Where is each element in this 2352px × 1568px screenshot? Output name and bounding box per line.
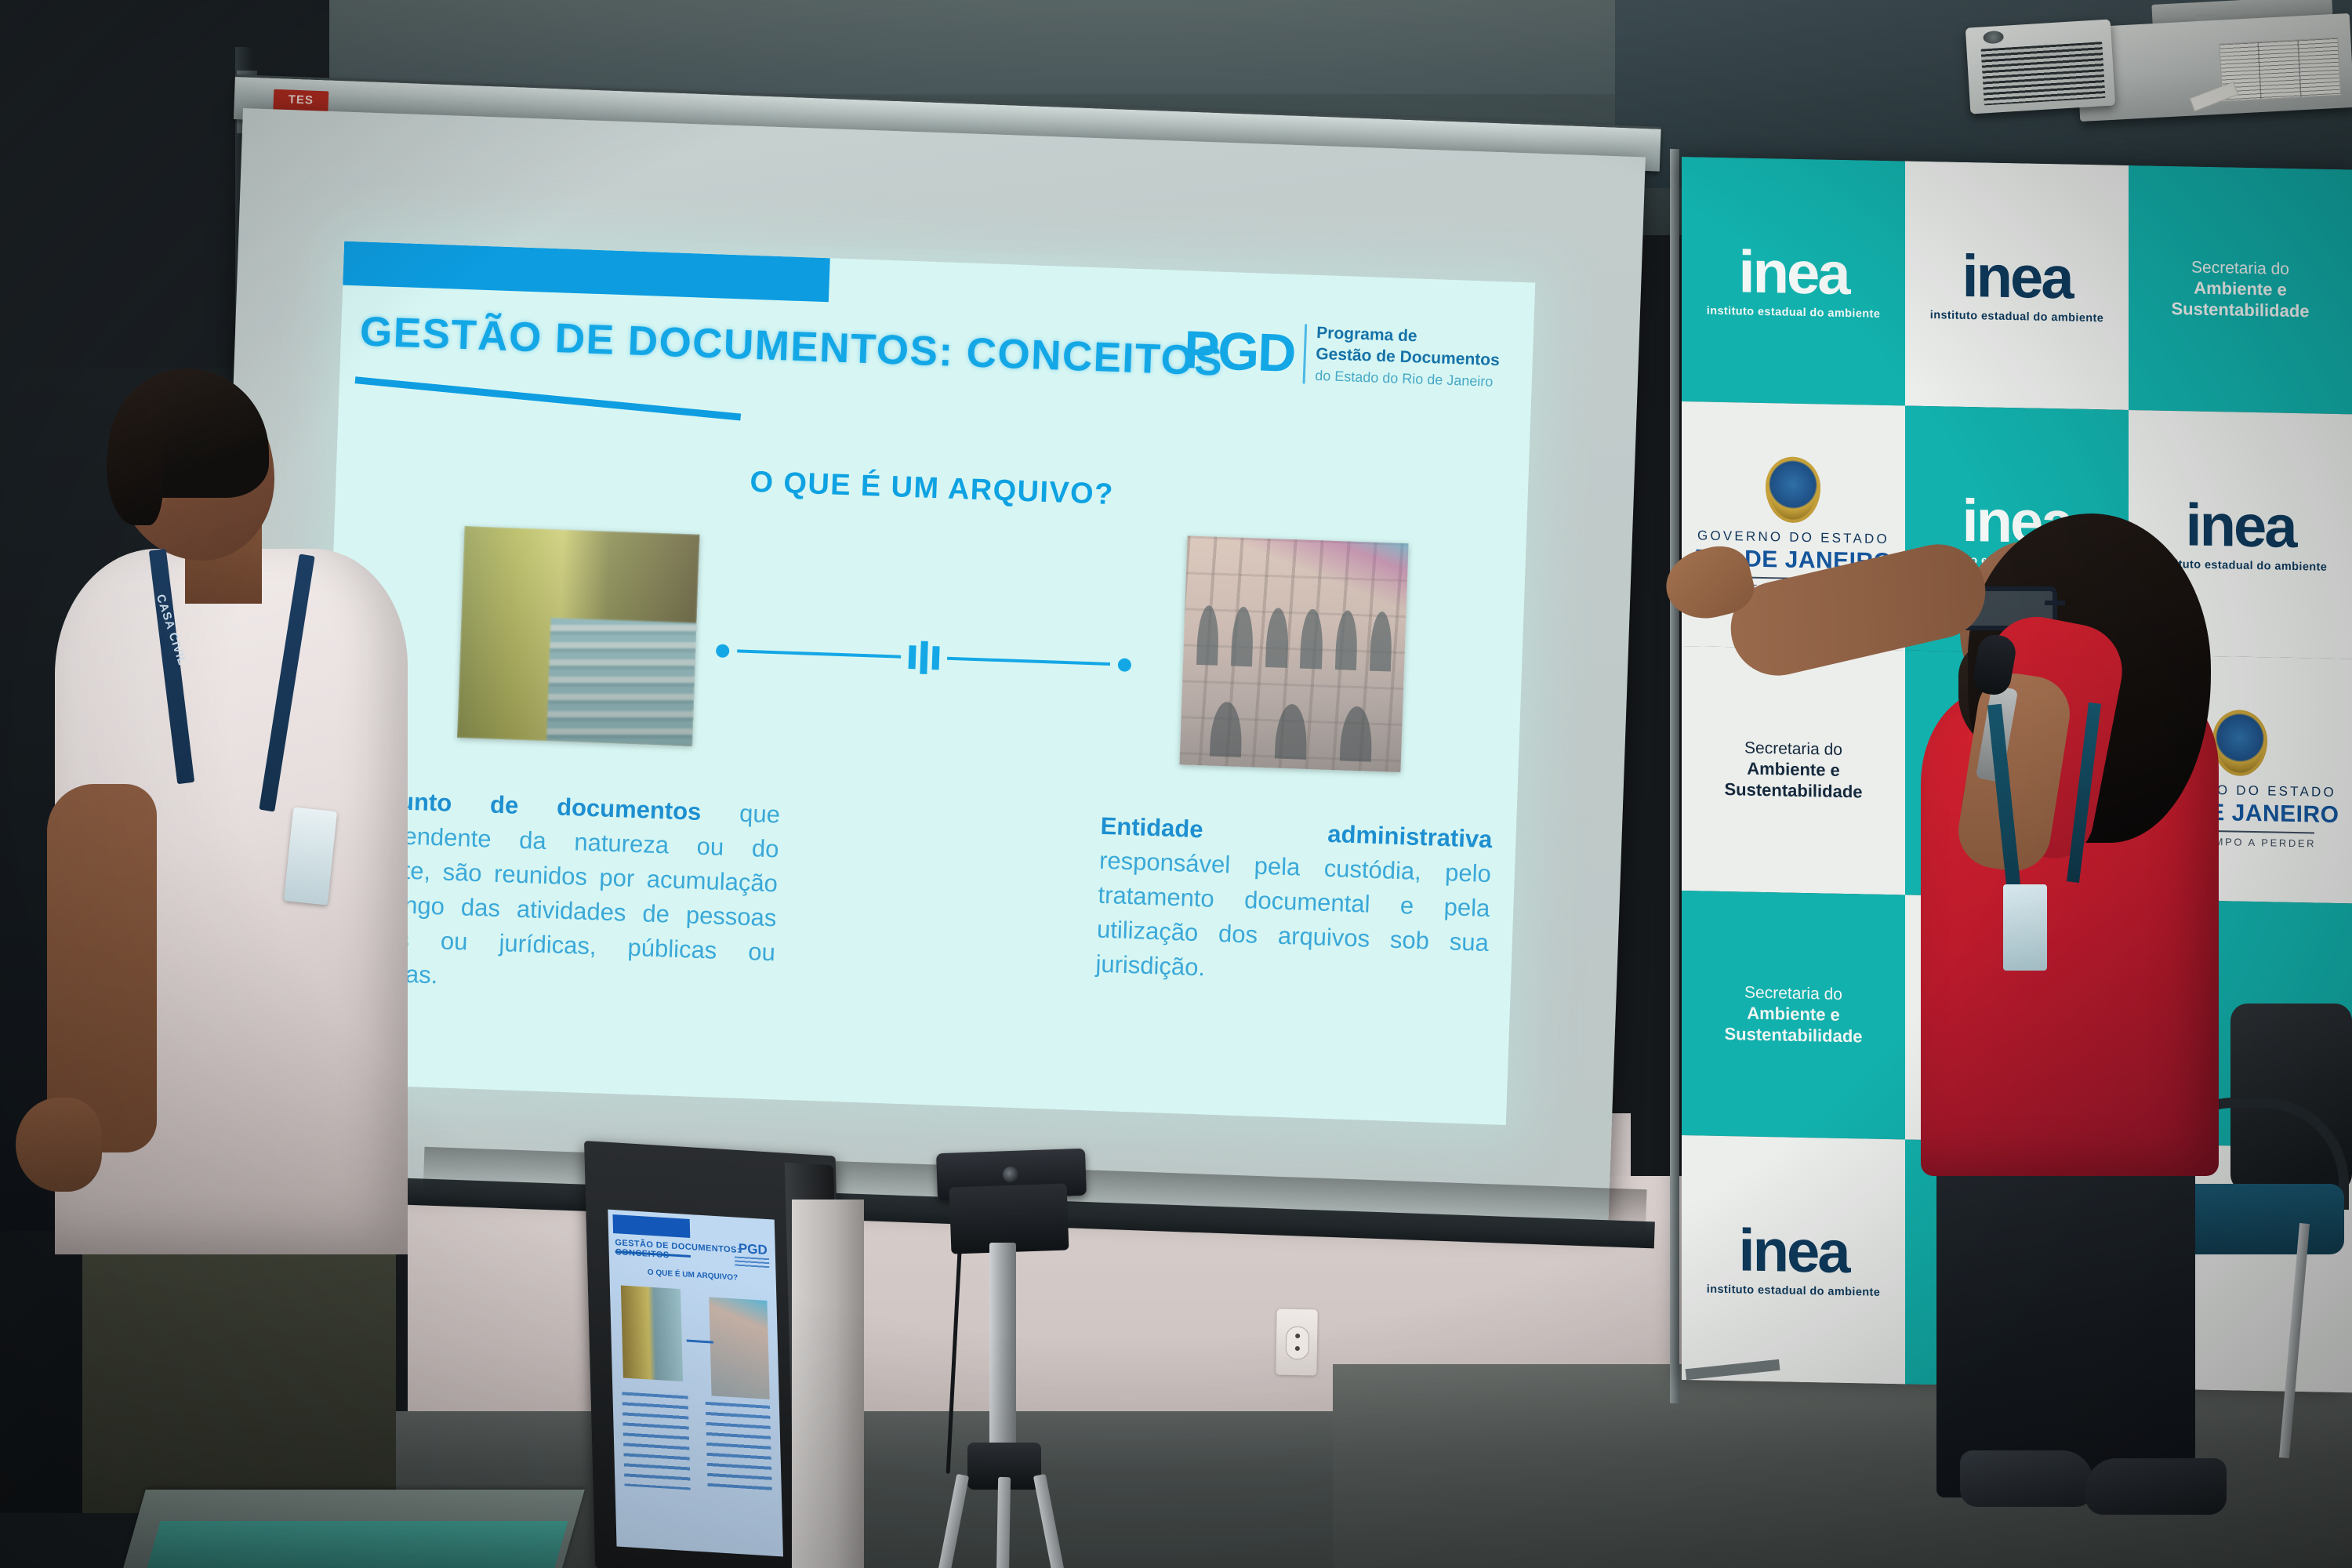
definition-right-lead: Entidade administrativa [1100, 812, 1493, 853]
banner-cell-secretaria: Secretaria doAmbiente e Sustentabilidade [1682, 646, 1905, 895]
inea-logo: ineainstituto estadual do ambiente [1707, 1221, 1880, 1299]
projector-vent-grille [1980, 42, 2105, 105]
projector-front-housing [1965, 19, 2115, 114]
secretaria-logo: Secretaria doAmbiente e Sustentabilidade [1682, 982, 1905, 1048]
pgd-logo-divider [1303, 324, 1308, 383]
banner-support-pole [1670, 149, 1679, 1403]
tripod-leg [996, 1477, 1011, 1568]
presenter-right-shoe [2085, 1458, 2227, 1515]
definition-right: Entidade administrativa responsável pela… [1095, 809, 1493, 995]
mini-building-photo [709, 1297, 769, 1399]
title-underline-rule [355, 376, 742, 420]
attendee-left-hand [16, 1098, 102, 1192]
banner-cell-secretaria: Secretaria doAmbiente e Sustentabilidade [2129, 165, 2352, 414]
inea-logo-wordmark: inea [1738, 243, 1848, 305]
tripod-center-column [989, 1243, 1016, 1454]
pgd-logo-subtitle: Programa de Gestão de Documentos do Esta… [1315, 324, 1501, 391]
decorative-divider [716, 636, 1132, 678]
mini-pgd-subtitle [735, 1256, 769, 1269]
presenter-right-trousers [1936, 1129, 2195, 1497]
building-ground-arcade-row [1193, 701, 1389, 763]
projector-body [2075, 13, 2352, 122]
inea-logo: ineainstituto estadual do ambiente [2154, 495, 2327, 574]
pgd-subtitle-line-3: do Estado do Rio de Janeiro [1315, 368, 1499, 391]
divider-dot-right [1118, 658, 1132, 672]
presentation-room-scene: TES GESTÃO DE DOCUMENTOS: CONCEITOS PGD … [0, 0, 2352, 1568]
banner-cell-logo: ineainstituto estadual do ambiente [1682, 1135, 1905, 1384]
secretaria-logo: Secretaria doAmbiente e Sustentabilidade [2129, 256, 2352, 323]
screen-brand-label: TES [273, 89, 328, 112]
inea-logo-tagline: instituto estadual do ambiente [1707, 1284, 1880, 1299]
secretaria-line-2: Ambiente e Sustentabilidade [1682, 1002, 1905, 1048]
banner-cell-secretaria: Secretaria doAmbiente e Sustentabilidade [1682, 891, 1905, 1139]
definition-right-rest: responsável pela custódia, pelo tratamen… [1095, 847, 1492, 982]
divider-line-left [737, 649, 901, 658]
secretaria-logo: Secretaria doAmbiente e Sustentabilidade [1682, 737, 1905, 804]
mini-divider [687, 1340, 713, 1344]
monitor-stand-column [792, 1200, 864, 1568]
stack-of-documents-photo [457, 526, 699, 746]
slide-question-heading: O QUE É UM ARQUIVO? [336, 451, 1528, 526]
banner-cell-logo: ineainstituto estadual do ambiente [1905, 161, 2129, 409]
slide-title: GESTÃO DE DOCUMENTOS: CONCEITOS [359, 307, 1224, 385]
mini-slide-topbar [612, 1214, 690, 1238]
pgd-logo-mark: PGD [1183, 323, 1296, 380]
mini-slide-question: O QUE É UM ARQUIVO? [609, 1266, 776, 1285]
pgd-subtitle-line-2: Gestão de Documentos [1316, 344, 1500, 369]
divider-bars-icon [908, 641, 939, 674]
inea-logo-tagline: instituto estadual do ambiente [1930, 310, 2103, 325]
ceiling-projector [1960, 0, 2352, 141]
projector-inventory-tag [2190, 82, 2238, 111]
pgd-logo: PGD Programa de Gestão de Documentos do … [1183, 319, 1501, 391]
projector-lens-icon [1983, 31, 2004, 45]
building-arched-windows-row [1196, 605, 1393, 672]
inea-logo-tagline: instituto estadual do ambiente [1707, 306, 1880, 321]
inea-logo-wordmark: inea [2185, 496, 2295, 558]
webcam-lens-icon [1003, 1167, 1019, 1183]
banner-cell-logo: ineainstituto estadual do ambiente [1682, 157, 1905, 405]
inea-logo-wordmark: inea [1962, 247, 2071, 309]
mini-definition-right [706, 1402, 772, 1490]
gov-line-1: GOVERNO DO ESTADO [1697, 528, 1889, 547]
projection-screen: GESTÃO DE DOCUMENTOS: CONCEITOS PGD Prog… [206, 108, 1646, 1223]
presenter-right-glasses-temple [2045, 601, 2065, 605]
wall-power-outlet [1276, 1309, 1317, 1376]
archive-building-photo [1180, 535, 1409, 772]
presenter-right-shoe [1960, 1450, 2093, 1507]
secretaria-line-2: Ambiente e Sustentabilidade [2129, 277, 2352, 323]
state-crest-icon [1766, 456, 1820, 523]
projected-slide: GESTÃO DE DOCUMENTOS: CONCEITOS PGD Prog… [315, 241, 1536, 1125]
outlet-socket-icon [1286, 1327, 1310, 1360]
secretaria-line-2: Ambiente e Sustentabilidade [1682, 757, 1905, 804]
divider-line-right [946, 657, 1110, 666]
mini-documents-photo [621, 1286, 683, 1382]
monitor-screen: GESTÃO DE DOCUMENTOS: CONCEITOS PGD O QU… [608, 1210, 783, 1557]
front-table-lit-surface [147, 1521, 568, 1568]
inea-logo: ineainstituto estadual do ambiente [1707, 242, 1880, 321]
inea-logo: ineainstituto estadual do ambiente [1930, 246, 2103, 325]
state-crest-icon [2212, 710, 2267, 776]
mini-definition-left [622, 1392, 690, 1490]
attendee-left-hair-side [107, 408, 163, 525]
mini-pgd-logo: PGD [739, 1241, 768, 1258]
inea-logo-wordmark: inea [1738, 1221, 1848, 1283]
presenter-right-badge [2003, 884, 2047, 971]
divider-dot-left [716, 644, 730, 658]
